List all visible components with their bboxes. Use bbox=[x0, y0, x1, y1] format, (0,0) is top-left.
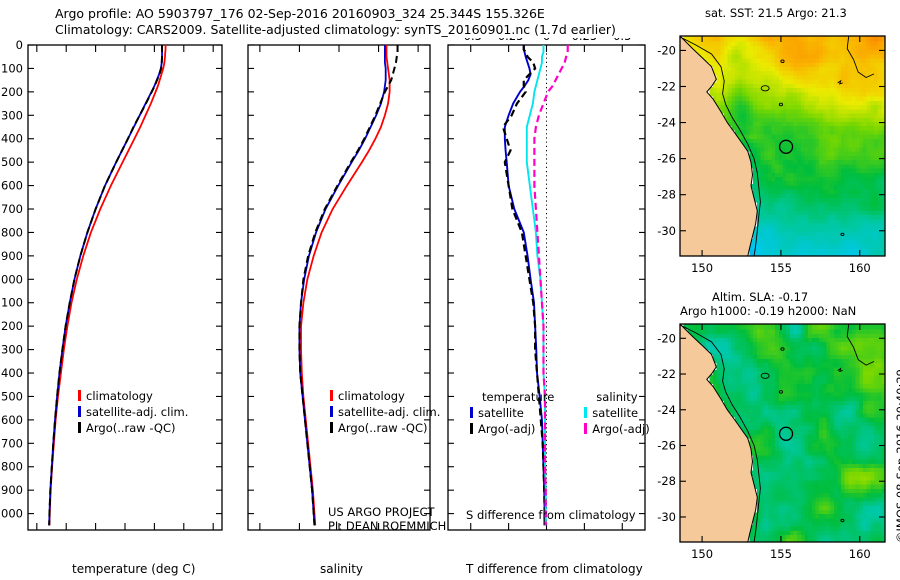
x-tick-label: 0 bbox=[543, 536, 550, 538]
legend-item-satellite-adj: satellite-adj. clim. bbox=[330, 405, 440, 419]
temperature-legend: climatology satellite-adj. clim. Argo(..… bbox=[78, 389, 188, 435]
x-tick-label: 25 bbox=[176, 536, 191, 538]
difference-panel: -2-1012-0.5-0.2500.250.5 bbox=[440, 38, 655, 538]
legend-swatch-satellite-adj bbox=[330, 406, 333, 417]
y-tick-label: 1800 bbox=[0, 460, 23, 474]
x-tick-label: 35.5 bbox=[366, 536, 392, 538]
x-tick-label: 2 bbox=[619, 536, 626, 538]
difference-legend-salinity: salinity satellite Argo(-adj) bbox=[584, 390, 649, 436]
series-salinity-argo-adj- bbox=[534, 45, 567, 525]
sst-map: 150155160-20-22-24-26-28-30 bbox=[655, 22, 900, 282]
legend-item-sal-satellite: satellite bbox=[584, 406, 649, 420]
y-tick-label: -26 bbox=[657, 152, 676, 166]
y-tick-label: 1900 bbox=[0, 483, 23, 497]
copyright-credit: ©IMOS 08-Sep-2016 20:40:29 bbox=[894, 369, 900, 543]
legend-header-temperature: temperature bbox=[482, 390, 554, 404]
legend-swatch-argo bbox=[78, 422, 81, 433]
legend-swatch-temp-satellite bbox=[470, 407, 473, 418]
sla-map-title-line1: Altim. SLA: -0.17 bbox=[712, 290, 808, 304]
x-tick-label-top: -0.25 bbox=[494, 38, 524, 43]
plot-frame bbox=[248, 45, 430, 530]
y-tick-label: 500 bbox=[1, 155, 23, 169]
y-tick-label: 100 bbox=[1, 61, 23, 75]
x-tick-label: 150 bbox=[691, 547, 713, 561]
x-tick-label: -2 bbox=[465, 536, 476, 538]
y-tick-label: 400 bbox=[1, 132, 23, 146]
legend-item-satellite-adj: satellite-adj. clim. bbox=[78, 405, 188, 419]
legend-swatch-temp-argo bbox=[470, 423, 473, 434]
y-tick-label: 1600 bbox=[0, 413, 23, 427]
map-raster bbox=[680, 324, 886, 543]
y-tick-label: -30 bbox=[657, 224, 676, 238]
legend-label: Argo(-adj) bbox=[592, 422, 649, 436]
x-tick-label: 155 bbox=[770, 261, 792, 275]
y-tick-label: 300 bbox=[1, 108, 23, 122]
salinity-legend: climatology satellite-adj. clim. Argo(..… bbox=[330, 389, 440, 435]
salinity-panel: 3434.53535.536 bbox=[240, 38, 440, 538]
y-tick-label: 800 bbox=[1, 225, 23, 239]
difference-legend: temperature satellite Argo(-adj) salinit… bbox=[470, 390, 650, 436]
x-tick-label: 15 bbox=[118, 536, 133, 538]
legend-item-argo: Argo(..raw -QC) bbox=[330, 421, 440, 435]
legend-label: satellite-adj. clim. bbox=[86, 405, 188, 419]
legend-header-salinity: salinity bbox=[596, 390, 649, 404]
legend-label: climatology bbox=[86, 389, 153, 403]
sla-map: 150155160-20-22-24-26-28-30 bbox=[655, 314, 900, 572]
y-tick-label: -24 bbox=[657, 403, 676, 417]
y-tick-label: 1300 bbox=[0, 343, 23, 357]
x-tick-label: 160 bbox=[849, 261, 871, 275]
x-tick-label-top: 0 bbox=[543, 38, 550, 43]
series-argo-raw-qc- bbox=[299, 45, 397, 525]
legend-label: Argo(..raw -QC) bbox=[86, 421, 176, 435]
x-tick-label: 160 bbox=[849, 547, 871, 561]
y-tick-label: 900 bbox=[1, 249, 23, 263]
legend-label: satellite bbox=[592, 406, 638, 420]
y-tick-label: -20 bbox=[657, 331, 676, 345]
page-title-line1: Argo profile: AO 5903797_176 02-Sep-2016… bbox=[55, 6, 545, 21]
x-tick-label: 35 bbox=[332, 536, 347, 538]
x-tick-label: 155 bbox=[770, 547, 792, 561]
legend-swatch-sal-argo bbox=[584, 423, 587, 434]
sst-map-title: sat. SST: 21.5 Argo: 21.3 bbox=[705, 6, 847, 20]
y-tick-label: -28 bbox=[657, 474, 676, 488]
x-tick-label-top: -0.5 bbox=[460, 38, 482, 43]
difference-legend-temperature: temperature satellite Argo(-adj) bbox=[470, 390, 554, 436]
legend-item-sal-argo: Argo(-adj) bbox=[584, 422, 649, 436]
project-credit-line2: PI: DEAN ROEMMICH bbox=[328, 519, 446, 533]
x-tick-label: 150 bbox=[691, 261, 713, 275]
y-tick-label: -22 bbox=[657, 79, 676, 93]
x-tick-label: 30 bbox=[206, 536, 221, 538]
y-tick-label: -30 bbox=[657, 510, 676, 524]
legend-swatch-satellite-adj bbox=[78, 406, 81, 417]
legend-item-argo: Argo(..raw -QC) bbox=[78, 421, 188, 435]
legend-item-temp-satellite: satellite bbox=[470, 406, 554, 420]
y-tick-label: 1100 bbox=[0, 296, 23, 310]
salinity-xaxis-label: salinity bbox=[320, 562, 363, 576]
plot-frame bbox=[28, 45, 222, 530]
x-tick-label: 10 bbox=[88, 536, 103, 538]
y-tick-label: 200 bbox=[1, 85, 23, 99]
x-tick-label: 34 bbox=[253, 536, 268, 538]
series-satellite-adj-clim- bbox=[299, 45, 385, 525]
y-tick-label: -22 bbox=[657, 367, 676, 381]
x-tick-label: 5 bbox=[63, 536, 70, 538]
x-tick-label: 0 bbox=[33, 536, 40, 538]
x-tick-label: -1 bbox=[503, 536, 514, 538]
temperature-xaxis-label: temperature (deg C) bbox=[72, 562, 195, 576]
temperature-panel: 0100200300400500600700800900100011001200… bbox=[0, 38, 240, 538]
y-tick-label: 0 bbox=[16, 38, 23, 52]
x-tick-label: 20 bbox=[147, 536, 162, 538]
legend-label: satellite bbox=[478, 406, 524, 420]
legend-swatch-sal-satellite bbox=[584, 407, 587, 418]
legend-label: satellite-adj. clim. bbox=[338, 405, 440, 419]
legend-item-climatology: climatology bbox=[78, 389, 188, 403]
series-climatology bbox=[49, 45, 165, 525]
x-tick-label-top: 0.25 bbox=[572, 38, 598, 43]
y-tick-label: 700 bbox=[1, 202, 23, 216]
y-tick-label: 1400 bbox=[0, 366, 23, 380]
difference-xaxis-label-top: S difference from climatology bbox=[466, 508, 636, 522]
y-tick-label: -26 bbox=[657, 439, 676, 453]
y-tick-label: -20 bbox=[657, 43, 676, 57]
y-tick-label: -24 bbox=[657, 116, 676, 130]
legend-label: Argo(..raw -QC) bbox=[338, 421, 428, 435]
map-raster bbox=[680, 36, 886, 257]
legend-swatch-climatology bbox=[78, 390, 81, 401]
y-tick-label: 1700 bbox=[0, 436, 23, 450]
x-tick-label: 34.5 bbox=[287, 536, 313, 538]
x-tick-label: 1 bbox=[581, 536, 588, 538]
difference-xaxis-label-bottom: T difference from climatology bbox=[466, 562, 643, 576]
y-tick-label: -28 bbox=[657, 188, 676, 202]
y-tick-label: 1500 bbox=[0, 389, 23, 403]
legend-label: Argo(-adj) bbox=[478, 422, 535, 436]
legend-swatch-climatology bbox=[330, 390, 333, 401]
legend-item-climatology: climatology bbox=[330, 389, 440, 403]
legend-item-temp-argo: Argo(-adj) bbox=[470, 422, 554, 436]
legend-swatch-argo bbox=[330, 422, 333, 433]
project-credit-line1: US ARGO PROJECT bbox=[328, 505, 435, 519]
x-tick-label-top: 0.5 bbox=[613, 38, 631, 43]
x-tick-label: 36 bbox=[411, 536, 426, 538]
y-tick-label: 2000 bbox=[0, 507, 23, 521]
legend-label: climatology bbox=[338, 389, 405, 403]
y-tick-label: 1200 bbox=[0, 319, 23, 333]
y-tick-label: 1000 bbox=[0, 272, 23, 286]
page-title-line2: Climatology: CARS2009. Satellite-adjuste… bbox=[55, 22, 616, 37]
y-tick-label: 600 bbox=[1, 179, 23, 193]
